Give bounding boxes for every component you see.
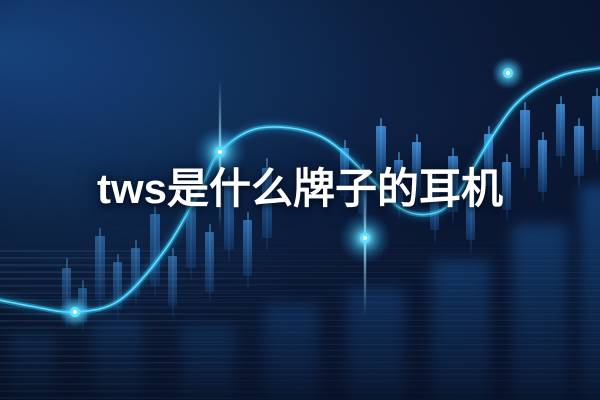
curve-node-center	[218, 150, 222, 154]
curve-node-center	[363, 236, 367, 240]
page-title: tws是什么牌子的耳机	[0, 168, 600, 210]
curve-node-center	[506, 71, 510, 75]
curve-node-center	[73, 310, 77, 314]
banner-image: tws是什么牌子的耳机	[0, 0, 600, 400]
